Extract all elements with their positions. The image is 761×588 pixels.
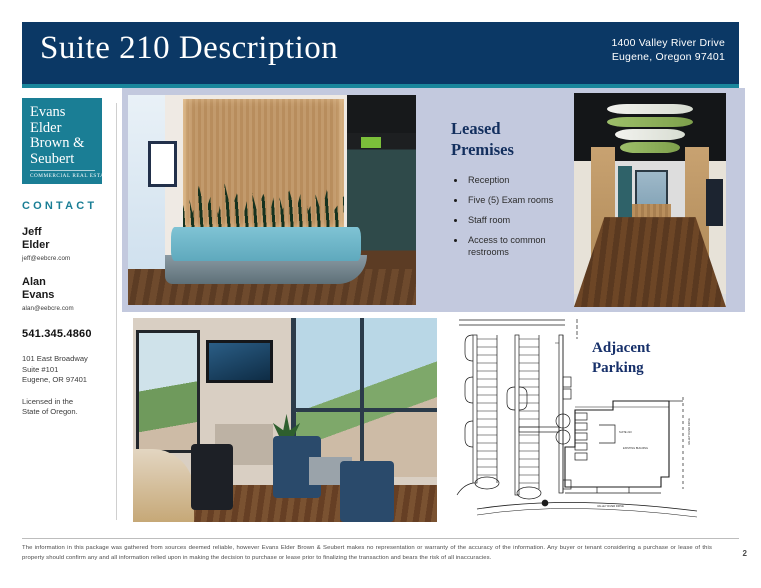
contact-last-name: Elder — [22, 239, 112, 252]
page-title: Suite 210 Description — [40, 30, 338, 67]
list-item: Five (5) Exam rooms — [451, 194, 571, 206]
office-photo — [133, 318, 437, 522]
bullet-icon — [454, 179, 457, 182]
hallway-photo — [574, 93, 726, 307]
bullet-icon — [454, 199, 457, 202]
leased-heading-line2: Premises — [451, 139, 571, 160]
leased-features-list: Reception Five (5) Exam rooms Staff room… — [451, 174, 571, 258]
office-address-line3: Eugene, OR 97401 — [22, 375, 112, 386]
list-item: Staff room — [451, 214, 571, 226]
contact-name: Jeff Elder — [22, 226, 112, 252]
contact-alan-evans: Alan Evans alan@eebcre.com — [22, 276, 112, 312]
office-address-line2: Suite #101 — [22, 365, 112, 376]
property-address-line1: 1400 Valley River Drive — [611, 36, 725, 50]
page-number: 2 — [743, 549, 747, 558]
svg-text:VALLEY RIVER DRIVE: VALLEY RIVER DRIVE — [687, 418, 691, 445]
list-item-label: Access to common restrooms — [468, 235, 546, 257]
company-logo: Evans Elder Brown & Seubert COMMERCIAL R… — [22, 98, 102, 184]
license-note-line1: Licensed in the — [22, 397, 112, 408]
logo-line-1: Evans — [30, 105, 95, 121]
contact-email-link[interactable]: jeff@eebcre.com — [22, 255, 112, 262]
adjacent-parking-line1: Adjacent — [592, 338, 650, 358]
reception-photo-art — [128, 95, 416, 305]
logo-tagline: COMMERCIAL REAL ESTATE — [30, 170, 95, 179]
list-item: Reception — [451, 174, 571, 186]
svg-text:VALLEY RIVER DRIVE: VALLEY RIVER DRIVE — [597, 504, 624, 508]
contact-sidebar: Evans Elder Brown & Seubert COMMERCIAL R… — [22, 98, 112, 418]
hallway-photo-art — [574, 93, 726, 307]
footer-divider — [22, 538, 739, 539]
reception-photo — [128, 95, 416, 305]
list-item-label: Reception — [468, 175, 509, 185]
office-address-line1: 101 East Broadway — [22, 354, 112, 365]
list-item-label: Staff room — [468, 215, 510, 225]
office-photo-art — [133, 318, 437, 522]
contact-jeff-elder: Jeff Elder jeff@eebcre.com — [22, 226, 112, 262]
list-item-label: Five (5) Exam rooms — [468, 195, 553, 205]
contact-last-name: Evans — [22, 289, 112, 302]
logo-line-4: Seubert — [30, 152, 95, 168]
contact-email-link[interactable]: alan@eebcre.com — [22, 305, 112, 312]
leased-premises-heading: Leased Premises — [451, 118, 571, 160]
sidebar-divider — [116, 103, 117, 520]
footer-disclaimer: The information in this package was gath… — [22, 544, 712, 563]
adjacent-parking-label: Adjacent Parking — [592, 338, 650, 378]
svg-text:EXISTING BUILDING: EXISTING BUILDING — [623, 446, 648, 450]
svg-text:SUITE 210: SUITE 210 — [619, 430, 632, 434]
leased-premises-panel: Leased Premises Reception Five (5) Exam … — [122, 88, 745, 312]
logo-line-2: Elder — [30, 121, 95, 137]
bullet-icon — [454, 239, 457, 242]
office-address: 101 East Broadway Suite #101 Eugene, OR … — [22, 354, 112, 386]
contact-first-name: Alan — [22, 276, 112, 289]
property-address-line2: Eugene, Oregon 97401 — [611, 50, 725, 64]
contact-phone[interactable]: 541.345.4860 — [22, 328, 112, 340]
site-plan: SUITE 210 EXISTING BUILDING VALLEY RIVER… — [447, 317, 745, 527]
license-note: Licensed in the State of Oregon. — [22, 397, 112, 418]
adjacent-parking-line2: Parking — [592, 358, 650, 378]
presentation-page: Suite 210 Description 1400 Valley River … — [0, 0, 761, 588]
contact-first-name: Jeff — [22, 226, 112, 239]
bullet-icon — [454, 219, 457, 222]
leased-premises-block: Leased Premises Reception Five (5) Exam … — [451, 118, 571, 266]
license-note-line2: State of Oregon. — [22, 407, 112, 418]
leased-heading-line1: Leased — [451, 118, 571, 139]
logo-line-3: Brown & — [30, 136, 95, 152]
contact-heading: CONTACT — [22, 200, 112, 212]
list-item: Access to common restrooms — [451, 234, 571, 258]
page-header: Suite 210 Description 1400 Valley River … — [22, 22, 739, 84]
contact-name: Alan Evans — [22, 276, 112, 302]
property-address: 1400 Valley River Drive Eugene, Oregon 9… — [611, 36, 725, 64]
